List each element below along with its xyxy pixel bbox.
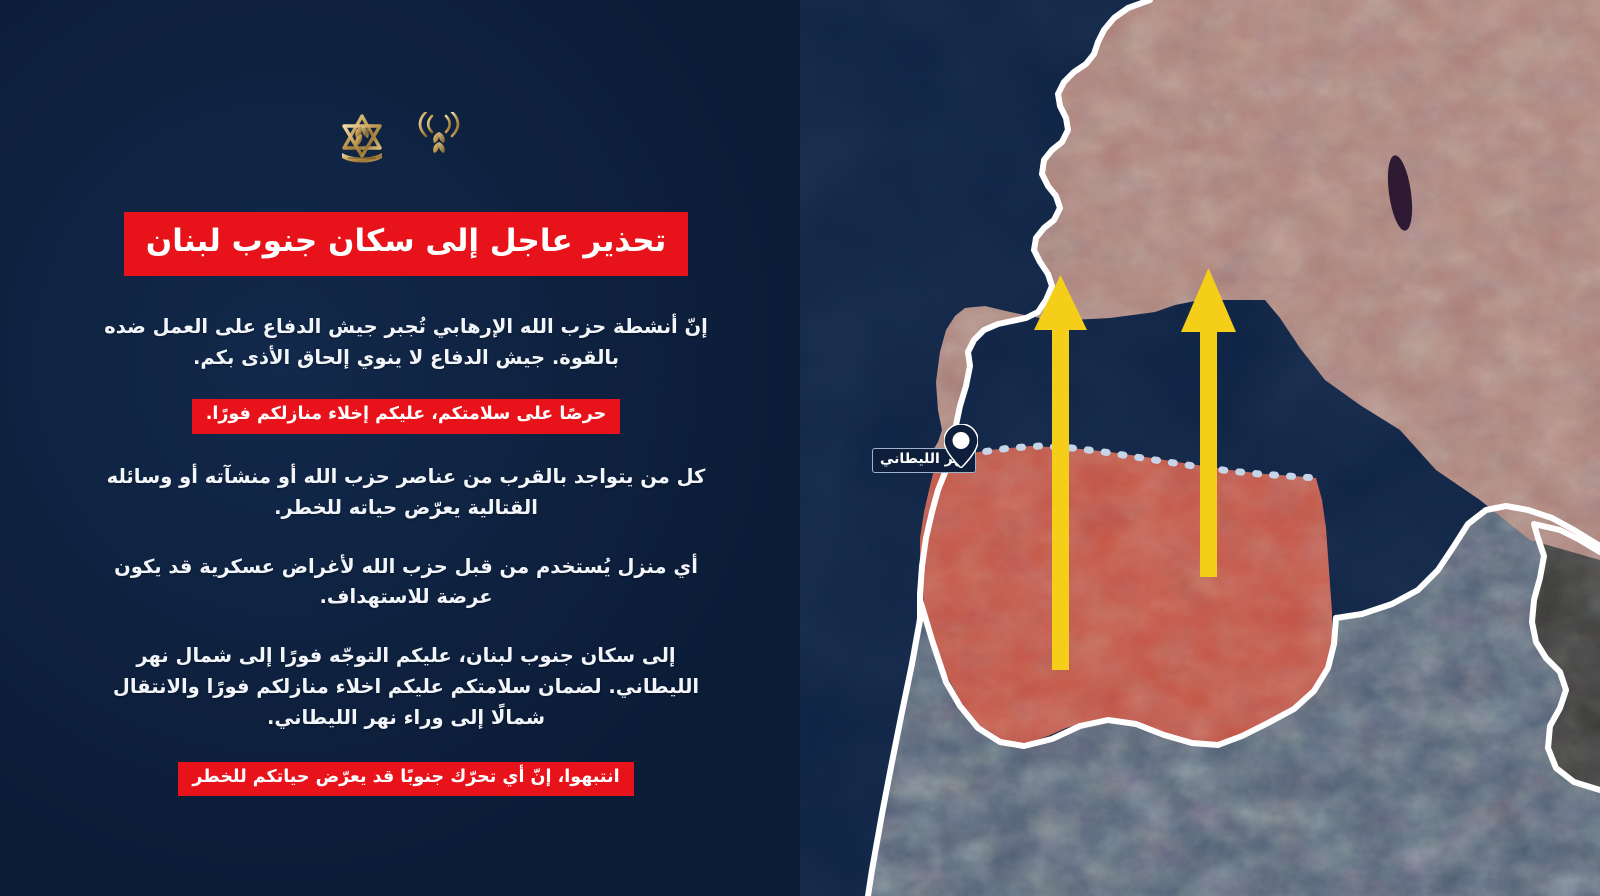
spacer — [96, 613, 716, 641]
paragraph-5: إلى سكان جنوب لبنان، عليكم التوجّه فورًا… — [96, 641, 716, 733]
pin-dot — [953, 432, 970, 449]
broadcast-icon — [414, 112, 464, 170]
map-pin-litani[interactable] — [944, 424, 978, 468]
spacer — [96, 734, 716, 762]
poster-root: نهر الليطاني — [0, 0, 1600, 896]
evacuate-banner: حرصًا على سلامتكم، عليكم إخلاء منازلكم ف… — [192, 399, 621, 434]
message-column: تحذير عاجل إلى سكان جنوب لبنان إنّ أنشطة… — [96, 212, 716, 796]
left-content-panel: تحذير عاجل إلى سكان جنوب لبنان إنّ أنشطة… — [0, 0, 800, 896]
spacer — [96, 434, 716, 462]
spacer — [96, 524, 716, 552]
paragraph-3: كل من يتواجد بالقرب من عناصر حزب الله أو… — [96, 462, 716, 524]
paragraph-1: إنّ أنشطة حزب الله الإرهابي تُجبر جيش ال… — [96, 312, 716, 374]
warning-banner: انتبهوا، إنّ أي تحرّك جنوبًا قد يعرّض حي… — [178, 762, 633, 797]
idf-insignia-icon — [336, 112, 388, 170]
spacer — [96, 373, 716, 399]
paragraph-4: أي منزل يُستخدم من قبل حزب الله لأغراض ع… — [96, 552, 716, 614]
emblem-row — [0, 112, 800, 170]
title-banner: تحذير عاجل إلى سكان جنوب لبنان — [124, 212, 688, 276]
